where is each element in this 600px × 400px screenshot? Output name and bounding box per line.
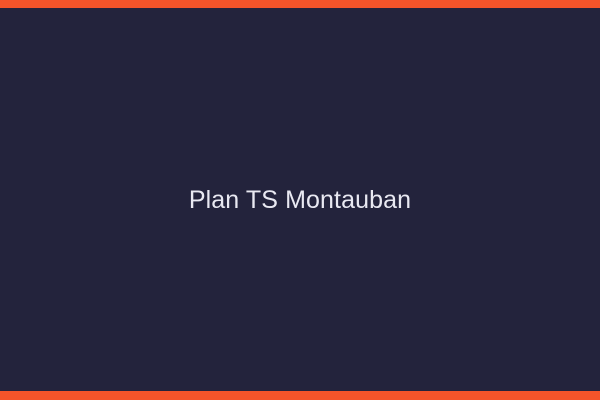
bottom-accent-bar [0, 391, 600, 400]
placeholder-body: Plan TS Montauban [0, 8, 600, 391]
placeholder-image-card: Plan TS Montauban [0, 0, 600, 400]
top-accent-bar [0, 0, 600, 8]
placeholder-title: Plan TS Montauban [189, 185, 411, 215]
